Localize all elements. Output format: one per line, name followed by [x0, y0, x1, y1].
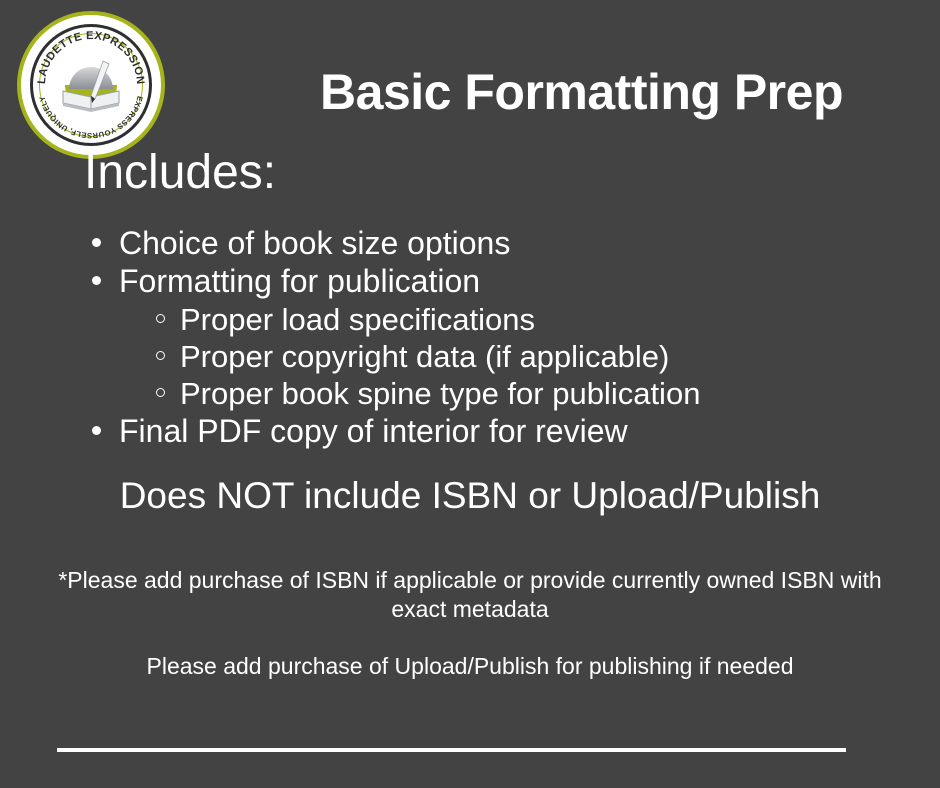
list-item: Proper book spine type for publication — [84, 375, 884, 412]
list-item-label: Proper book spine type for publication — [180, 375, 700, 412]
hollow-bullet-icon — [156, 301, 180, 338]
list-item-label: Final PDF copy of interior for review — [119, 412, 628, 450]
list-item-label: Formatting for publication — [119, 262, 480, 300]
filled-bullet-icon — [92, 262, 119, 300]
list-item: Proper load specifications — [84, 301, 884, 338]
list-item-label: Choice of book size options — [119, 224, 510, 262]
logo-emblem-icon: CLAUDETTE EXPRESSIONS EXPRESS YOURSELF, … — [17, 11, 165, 159]
includes-heading: Includes: — [84, 145, 276, 200]
page-title: Basic Formatting Prep — [180, 66, 900, 119]
list-item: Proper copyright data (if applicable) — [84, 338, 884, 375]
filled-bullet-icon — [92, 224, 119, 262]
list-item: Choice of book size options — [84, 224, 884, 262]
list-item-label: Proper load specifications — [180, 301, 535, 338]
list-item-label: Proper copyright data (if applicable) — [180, 338, 669, 375]
bottom-divider — [57, 748, 846, 752]
includes-list: Choice of book size options Formatting f… — [84, 224, 884, 451]
isbn-note: *Please add purchase of ISBN if applicab… — [50, 566, 890, 625]
slide-canvas: CLAUDETTE EXPRESSIONS EXPRESS YOURSELF, … — [0, 0, 940, 788]
brand-logo: CLAUDETTE EXPRESSIONS EXPRESS YOURSELF, … — [17, 11, 165, 159]
list-item: Formatting for publication — [84, 262, 884, 300]
hollow-bullet-icon — [156, 338, 180, 375]
filled-bullet-icon — [92, 412, 119, 450]
exclusion-callout: Does NOT include ISBN or Upload/Publish — [70, 473, 870, 518]
upload-publish-note: Please add purchase of Upload/Publish fo… — [50, 652, 890, 681]
list-item: Final PDF copy of interior for review — [84, 412, 884, 450]
hollow-bullet-icon — [156, 375, 180, 412]
